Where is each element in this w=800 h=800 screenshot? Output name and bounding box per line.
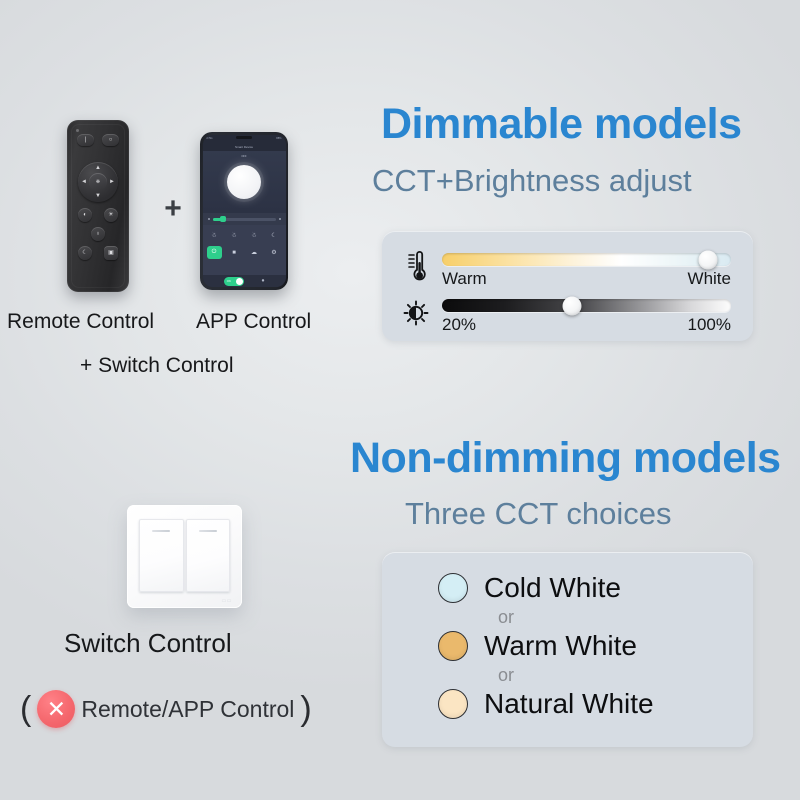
no-remote-app-control-note: ( ✕ Remote/APP Control ) (20, 690, 312, 728)
remote-control-device: | ○ ▲ ▼ ◄ ► ❉ ◐ ☀ ♁ (58, 120, 138, 292)
cct-choice-list: Cold White or Warm White or Natural Whit… (382, 568, 753, 724)
or-separator-2: or (498, 666, 514, 684)
switch-rockers (139, 519, 230, 592)
dimmable-subheading: CCT+Brightness adjust (372, 163, 692, 199)
cct-icon: ◐ (83, 212, 87, 218)
dimmable-controls-panel: Warm White (382, 231, 753, 341)
phone-bottom-bar: ON ⏺ (203, 275, 286, 287)
phone-screen: ıll 5G 9:41 88% Smart Device OFF (203, 135, 286, 287)
phone-bulb-circle[interactable] (227, 165, 261, 199)
phone-scene-bulb-3[interactable]: ☃ (247, 229, 262, 242)
switch-rocker-right[interactable] (186, 519, 231, 592)
cold-white-label: Cold White (484, 572, 621, 604)
phone-toggle-knob (236, 278, 243, 285)
phone-scene-bulb-1[interactable]: ☃ (207, 229, 222, 242)
switch-rocker-left[interactable] (139, 519, 184, 592)
red-x-icon: ✕ (37, 690, 75, 728)
phone-scene-row: ☃ ☃ ☃ ☾ (207, 229, 282, 242)
brightness-icon: ☀ (108, 212, 113, 218)
open-paren: ( (20, 692, 31, 726)
slider-min-dot (208, 218, 210, 220)
brightness-slider-track[interactable] (442, 299, 731, 312)
remote-control-caption: Remote Control (7, 310, 154, 334)
cold-white-swatch-icon (438, 573, 468, 603)
remote-cct-button[interactable]: ◐ (78, 208, 92, 222)
cct-choice-natural-white[interactable]: Natural White (438, 684, 654, 724)
cct-slider-labels: Warm White (442, 269, 731, 289)
brightness-slider-labels: 20% 100% (442, 315, 731, 335)
cct-choice-warm-white[interactable]: Warm White (438, 626, 637, 666)
cct-slider-track[interactable] (442, 253, 731, 266)
or-separator-1: or (498, 608, 514, 626)
scene-icon: ▣ (108, 250, 114, 256)
warm-white-label: Warm White (484, 630, 637, 662)
infographic-canvas: | ○ ▲ ▼ ◄ ► ❉ ◐ ☀ ♁ (0, 0, 800, 800)
brightness-slider-thumb[interactable] (563, 296, 582, 315)
phone-slider-track[interactable] (213, 218, 276, 221)
phone-action-cloud[interactable]: ☁ (247, 246, 262, 259)
slider-max-dot (279, 218, 281, 220)
cct-slider-thumb[interactable] (698, 250, 717, 269)
phone-slider-knob[interactable] (220, 216, 226, 222)
dpad-center-button[interactable]: ❉ (89, 173, 107, 191)
brightness-icon (402, 295, 429, 331)
smartphone-device: ıll 5G 9:41 88% Smart Device OFF (200, 132, 292, 292)
phone-power-toggle[interactable]: ON (224, 277, 244, 286)
phone-notch (236, 136, 252, 139)
non-dimming-subheading: Three CCT choices (405, 496, 671, 532)
remote-dpad[interactable]: ▲ ▼ ◄ ► ❉ (78, 162, 118, 202)
phone-mic-icon[interactable]: ⏺ (262, 278, 265, 284)
no-control-label: Remote/APP Control (81, 696, 294, 723)
non-dimming-heading: Non-dimming models (350, 434, 781, 483)
remote-night-mode-button[interactable]: ☾ (78, 246, 92, 260)
switch-faceplate: ▭▭ (127, 505, 242, 608)
brightness-min-label: 20% (442, 315, 476, 335)
phone-scene-moon[interactable]: ☾ (267, 229, 282, 242)
plus-switch-control-caption: + Switch Control (80, 354, 233, 378)
phone-scene-bulb-2[interactable]: ☃ (227, 229, 242, 242)
phone-light-preview: OFF (203, 151, 286, 213)
bulb-icon: ♁ (96, 231, 101, 237)
status-battery: 88% (276, 137, 281, 140)
phone-action-gear[interactable]: ⚙ (267, 246, 282, 259)
rocker-left-indicator (152, 530, 170, 532)
dpad-up-icon[interactable]: ▲ (95, 165, 101, 171)
cct-choice-cold-white[interactable]: Cold White (438, 568, 621, 608)
dimmable-heading: Dimmable models (381, 100, 742, 149)
switch-control-caption: Switch Control (64, 628, 232, 659)
dpad-left-icon[interactable]: ◄ (81, 179, 87, 185)
phone-hero-label: OFF (241, 155, 246, 158)
close-paren: ) (300, 692, 311, 726)
natural-white-swatch-icon (438, 689, 468, 719)
phone-body: ıll 5G 9:41 88% Smart Device OFF (200, 132, 288, 290)
cct-slider-row: Warm White (402, 249, 731, 292)
status-signal: ıll 5G (207, 137, 213, 140)
brightness-max-label: 100% (688, 315, 731, 335)
moon-icon: ☾ (82, 250, 87, 256)
warm-white-swatch-icon (438, 631, 468, 661)
power-on-glyph: ○ (109, 137, 113, 143)
phone-brightness-slider[interactable] (203, 213, 286, 225)
remote-body: | ○ ▲ ▼ ◄ ► ❉ ◐ ☀ ♁ (67, 120, 129, 292)
cct-choices-panel: Cold White or Warm White or Natural Whit… (382, 552, 753, 747)
phone-toggle-label: ON (227, 280, 231, 283)
app-control-caption: APP Control (196, 310, 311, 334)
remote-bulb-button[interactable]: ♁ (91, 227, 105, 241)
phone-action-row: ⏻ ■ ☁ ⚙ (207, 246, 282, 259)
cct-max-label: White (688, 269, 731, 289)
phone-action-square[interactable]: ■ (227, 246, 242, 259)
phone-icon-grid: ☃ ☃ ☃ ☾ ⏻ ■ ☁ ⚙ (203, 225, 286, 275)
dpad-down-icon[interactable]: ▼ (95, 193, 101, 199)
brightness-slider-row: 20% 100% (402, 295, 731, 338)
brightness-slider-body: 20% 100% (442, 295, 731, 335)
cct-slider-body: Warm White (442, 249, 731, 289)
phone-action-power[interactable]: ⏻ (207, 246, 222, 259)
dpad-center-icon: ❉ (96, 179, 100, 185)
wall-switch-device: ▭▭ (127, 505, 242, 610)
remote-power-on-button[interactable]: ○ (102, 134, 119, 146)
remote-scene-button[interactable]: ▣ (104, 246, 118, 260)
phone-app-title: Smart Device (203, 142, 286, 151)
plus-symbol: + (160, 196, 186, 222)
remote-brightness-button[interactable]: ☀ (104, 208, 118, 222)
remote-led-indicator (76, 129, 79, 132)
power-off-glyph: | (85, 137, 87, 143)
switch-brand-mark: ▭▭ (222, 598, 232, 604)
dpad-right-icon[interactable]: ► (109, 179, 115, 185)
natural-white-label: Natural White (484, 688, 654, 720)
thermometer-icon (402, 249, 429, 285)
rocker-right-indicator (199, 530, 217, 532)
cct-min-label: Warm (442, 269, 487, 289)
remote-power-off-button[interactable]: | (77, 134, 94, 146)
